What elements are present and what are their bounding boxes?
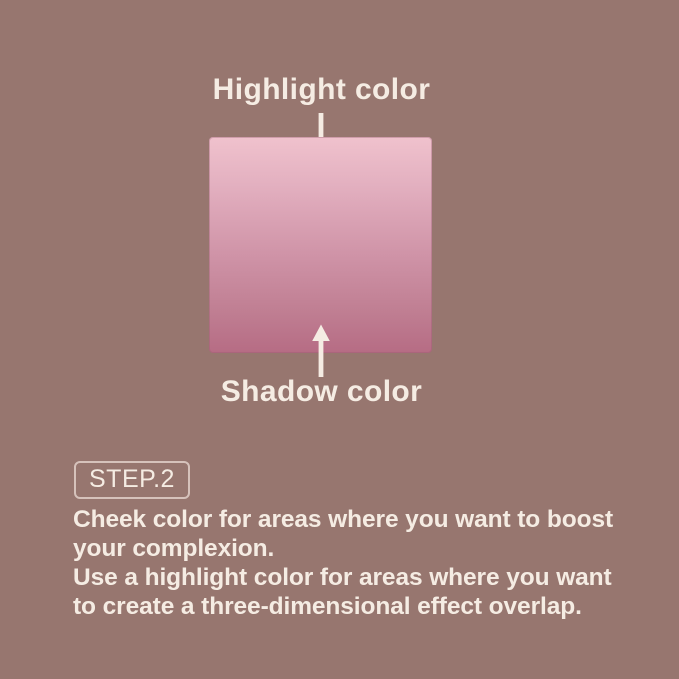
shadow-color-label: Shadow color <box>0 377 643 407</box>
instruction-line: to create a three-dimensional effect ove… <box>73 592 633 621</box>
instruction-line: Use a highlight color for areas where yo… <box>73 563 633 592</box>
step-badge: STEP.2 <box>74 461 190 499</box>
instruction-line: Cheek color for areas where you want to … <box>73 505 633 534</box>
gradient-color-swatch <box>209 137 432 353</box>
product-instruction-graphic: Highlight color Shadow color STEP.2 Chee… <box>0 0 679 679</box>
instruction-line: your complexion. <box>73 534 633 563</box>
instruction-text-block: Cheek color for areas where you want to … <box>73 505 633 621</box>
highlight-color-label: Highlight color <box>0 75 643 105</box>
arrow-up-icon <box>311 324 331 377</box>
